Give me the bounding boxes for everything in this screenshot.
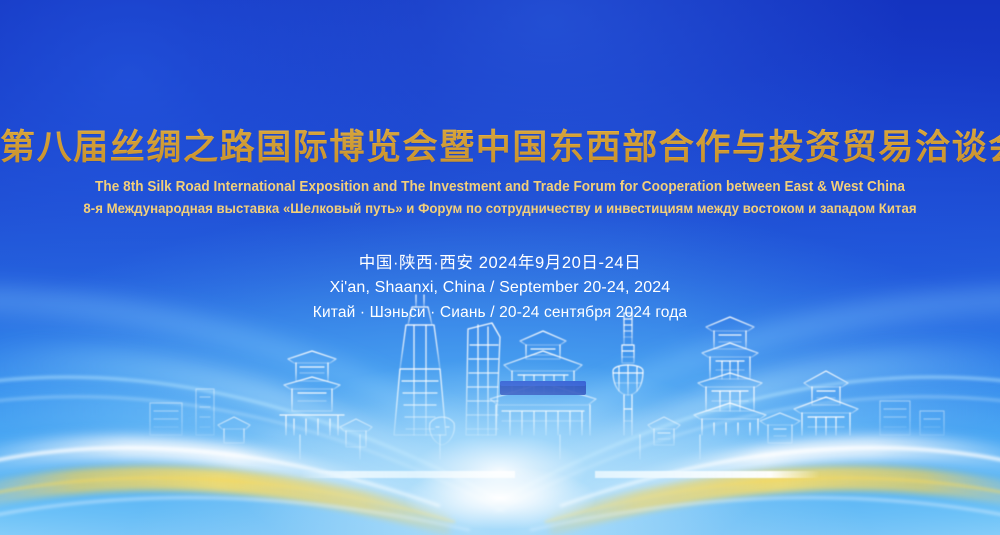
skyline-far-buildings	[150, 389, 944, 435]
wave-right-cyan-streaks	[495, 377, 1000, 512]
subtitle-russian: 8-я Международная выставка «Шелковый пут…	[35, 201, 965, 217]
wave-right-cyan-broad	[520, 345, 1000, 535]
event-details-chinese: 中国·陕西·西安 2024年9月20日-24日	[0, 251, 1000, 277]
wave-right-pale-arc	[530, 498, 1000, 530]
poster-canvas: 第八届丝绸之路国际博览会暨中国东西部合作与投资贸易洽谈会 The 8th Sil…	[0, 0, 1000, 535]
skyline-foreground-platform	[250, 435, 760, 459]
wave-right-white	[560, 435, 1000, 520]
glow-hotspot	[405, 467, 595, 529]
poster-text-block: 第八届丝绸之路国际博览会暨中国东西部合作与投资贸易洽谈会 The 8th Sil…	[0, 0, 1000, 325]
main-title-chinese: 第八届丝绸之路国际博览会暨中国东西部合作与投资贸易洽谈会	[0, 0, 1000, 170]
landmark-bell-tower	[482, 323, 604, 435]
skyline-foreground-details	[218, 413, 800, 447]
glow-bottom-center	[220, 355, 780, 535]
wave-left-cyan-broad	[0, 345, 480, 535]
landmark-glass-skyscraper	[466, 323, 500, 435]
bell-tower-roof-highlight	[500, 381, 586, 386]
landmark-left-pagoda-gate	[280, 351, 344, 435]
wave-high-right	[500, 300, 1000, 470]
event-details-russian: Китай · Шэньси · Сиань / 20-24 сентября …	[0, 301, 1000, 325]
light-band-right	[595, 471, 820, 478]
event-details: 中国·陕西·西安 2024年9月20日-24日 Xi'an, Shaanxi, …	[0, 251, 1000, 325]
wave-left-cyan-streaks	[0, 377, 505, 512]
light-band-left	[300, 471, 515, 478]
wave-left-pale-arc	[0, 498, 470, 530]
event-details-english: Xi'an, Shaanxi, China / September 20-24,…	[0, 276, 1000, 301]
wave-high-left	[0, 300, 500, 470]
wave-left-gold	[0, 466, 455, 535]
wave-right-gold	[545, 466, 1000, 535]
wave-left-white	[0, 435, 440, 520]
bell-tower-roof-band	[500, 381, 586, 395]
landmark-right-pavilion	[788, 361, 864, 435]
subtitle-english: The 8th Silk Road International Expositi…	[35, 179, 965, 195]
